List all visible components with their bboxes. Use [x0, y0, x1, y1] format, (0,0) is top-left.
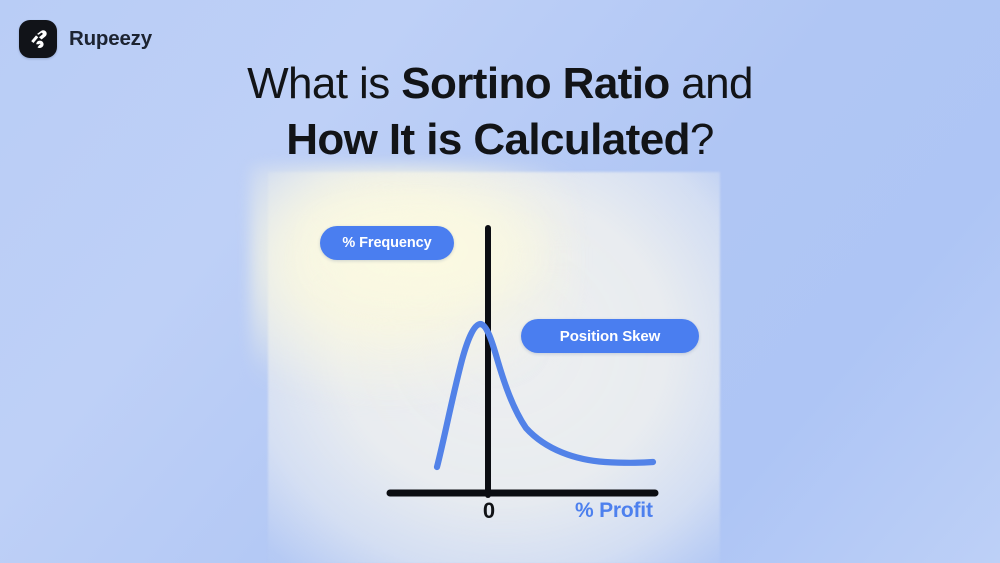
x-axis-label: % Profit [575, 499, 653, 523]
position-skew-annotation-pill[interactable]: Position Skew [521, 319, 699, 353]
skew-distribution-chart [0, 0, 1000, 563]
banner-canvas: Rupeezy What is Sortino Ratio and How It… [0, 0, 1000, 563]
origin-tick-label: 0 [468, 498, 510, 524]
y-axis-label-pill[interactable]: % Frequency [320, 226, 454, 260]
